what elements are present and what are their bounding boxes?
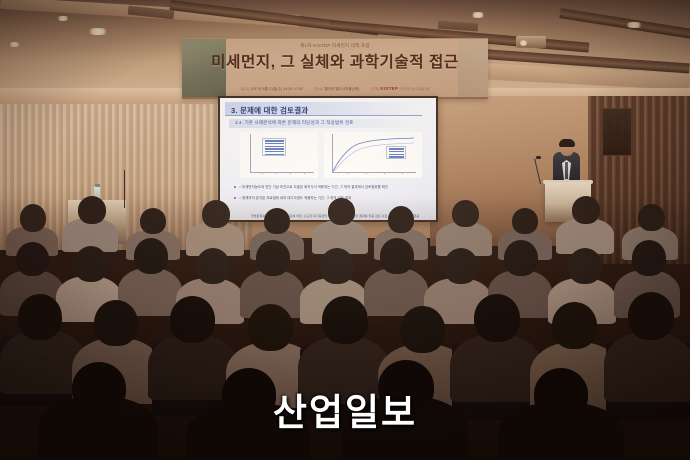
banner-pretitle: 제1차 KISTEP 미세먼지 대책 포럼 [182,43,488,49]
microphone-icon [536,156,541,159]
banner-venue-label: (장소) [314,87,323,91]
projector-lens-icon [520,40,527,46]
chart-legend [386,146,406,159]
banner-title: 미세먼지, 그 실체와 과학기술적 접근 [182,50,488,72]
ceiling-downlight [56,16,70,21]
chart-y-axis [250,134,251,172]
chart-legend [262,138,286,156]
ceiling-downlight [624,22,644,28]
event-banner: 제1차 KISTEP 미세먼지 대책 포럼 미세먼지, 그 실체와 과학기술적 … [182,38,488,99]
banner-meta: (일시) 2017년 6월 21일(수) 14:30~17:00 (장소) 엘타… [182,86,488,92]
wall-loudspeaker [602,108,632,156]
banner-host-label: (주최) [370,87,379,91]
slide-subtitle: 3.4. 기존 사례분석에 따른 문제의 타당성과 그 적용범위 검토 [235,120,354,126]
banner-venue-value: 엘타워 엘리시아홀(2층) [324,87,359,91]
ceiling-downlight [8,42,21,47]
ceiling-downlight [470,12,486,18]
banner-date-label: (일시) [240,87,249,91]
presenter-tie [565,162,568,179]
slide-title-bar: 3. 문제에 대한 검토결과 [225,102,422,116]
bottle-cap [95,184,100,187]
slide-chart-left [240,132,318,178]
presenter-hair [559,139,575,147]
slide-subtitle-bar: 3.4. 기존 사례분석에 따른 문제의 타당성과 그 적용범위 검토 [229,119,416,128]
host-subtitle: 한국과학기술기획평가원 [399,87,429,91]
slide-title: 3. 문제에 대한 검토결과 [231,105,308,116]
slide-bullet: ○ 미세먼지농도와 연간 기상 조건으로 도출된 회귀식이 적용되는 기간, 그… [239,184,388,189]
banner-date-value: 2017년 6월 21일(수) 14:30~17:00 [250,87,303,91]
watermark: 산업일보 [0,382,690,436]
kistep-logo: KISTEP [380,86,398,91]
chart-curve [324,132,422,178]
slide-chart-right [324,132,422,178]
ceiling-downlight [86,28,110,35]
conference-photo: 제1차 KISTEP 미세먼지 대책 포럼 미세먼지, 그 실체와 과학기술적 … [0,0,690,460]
